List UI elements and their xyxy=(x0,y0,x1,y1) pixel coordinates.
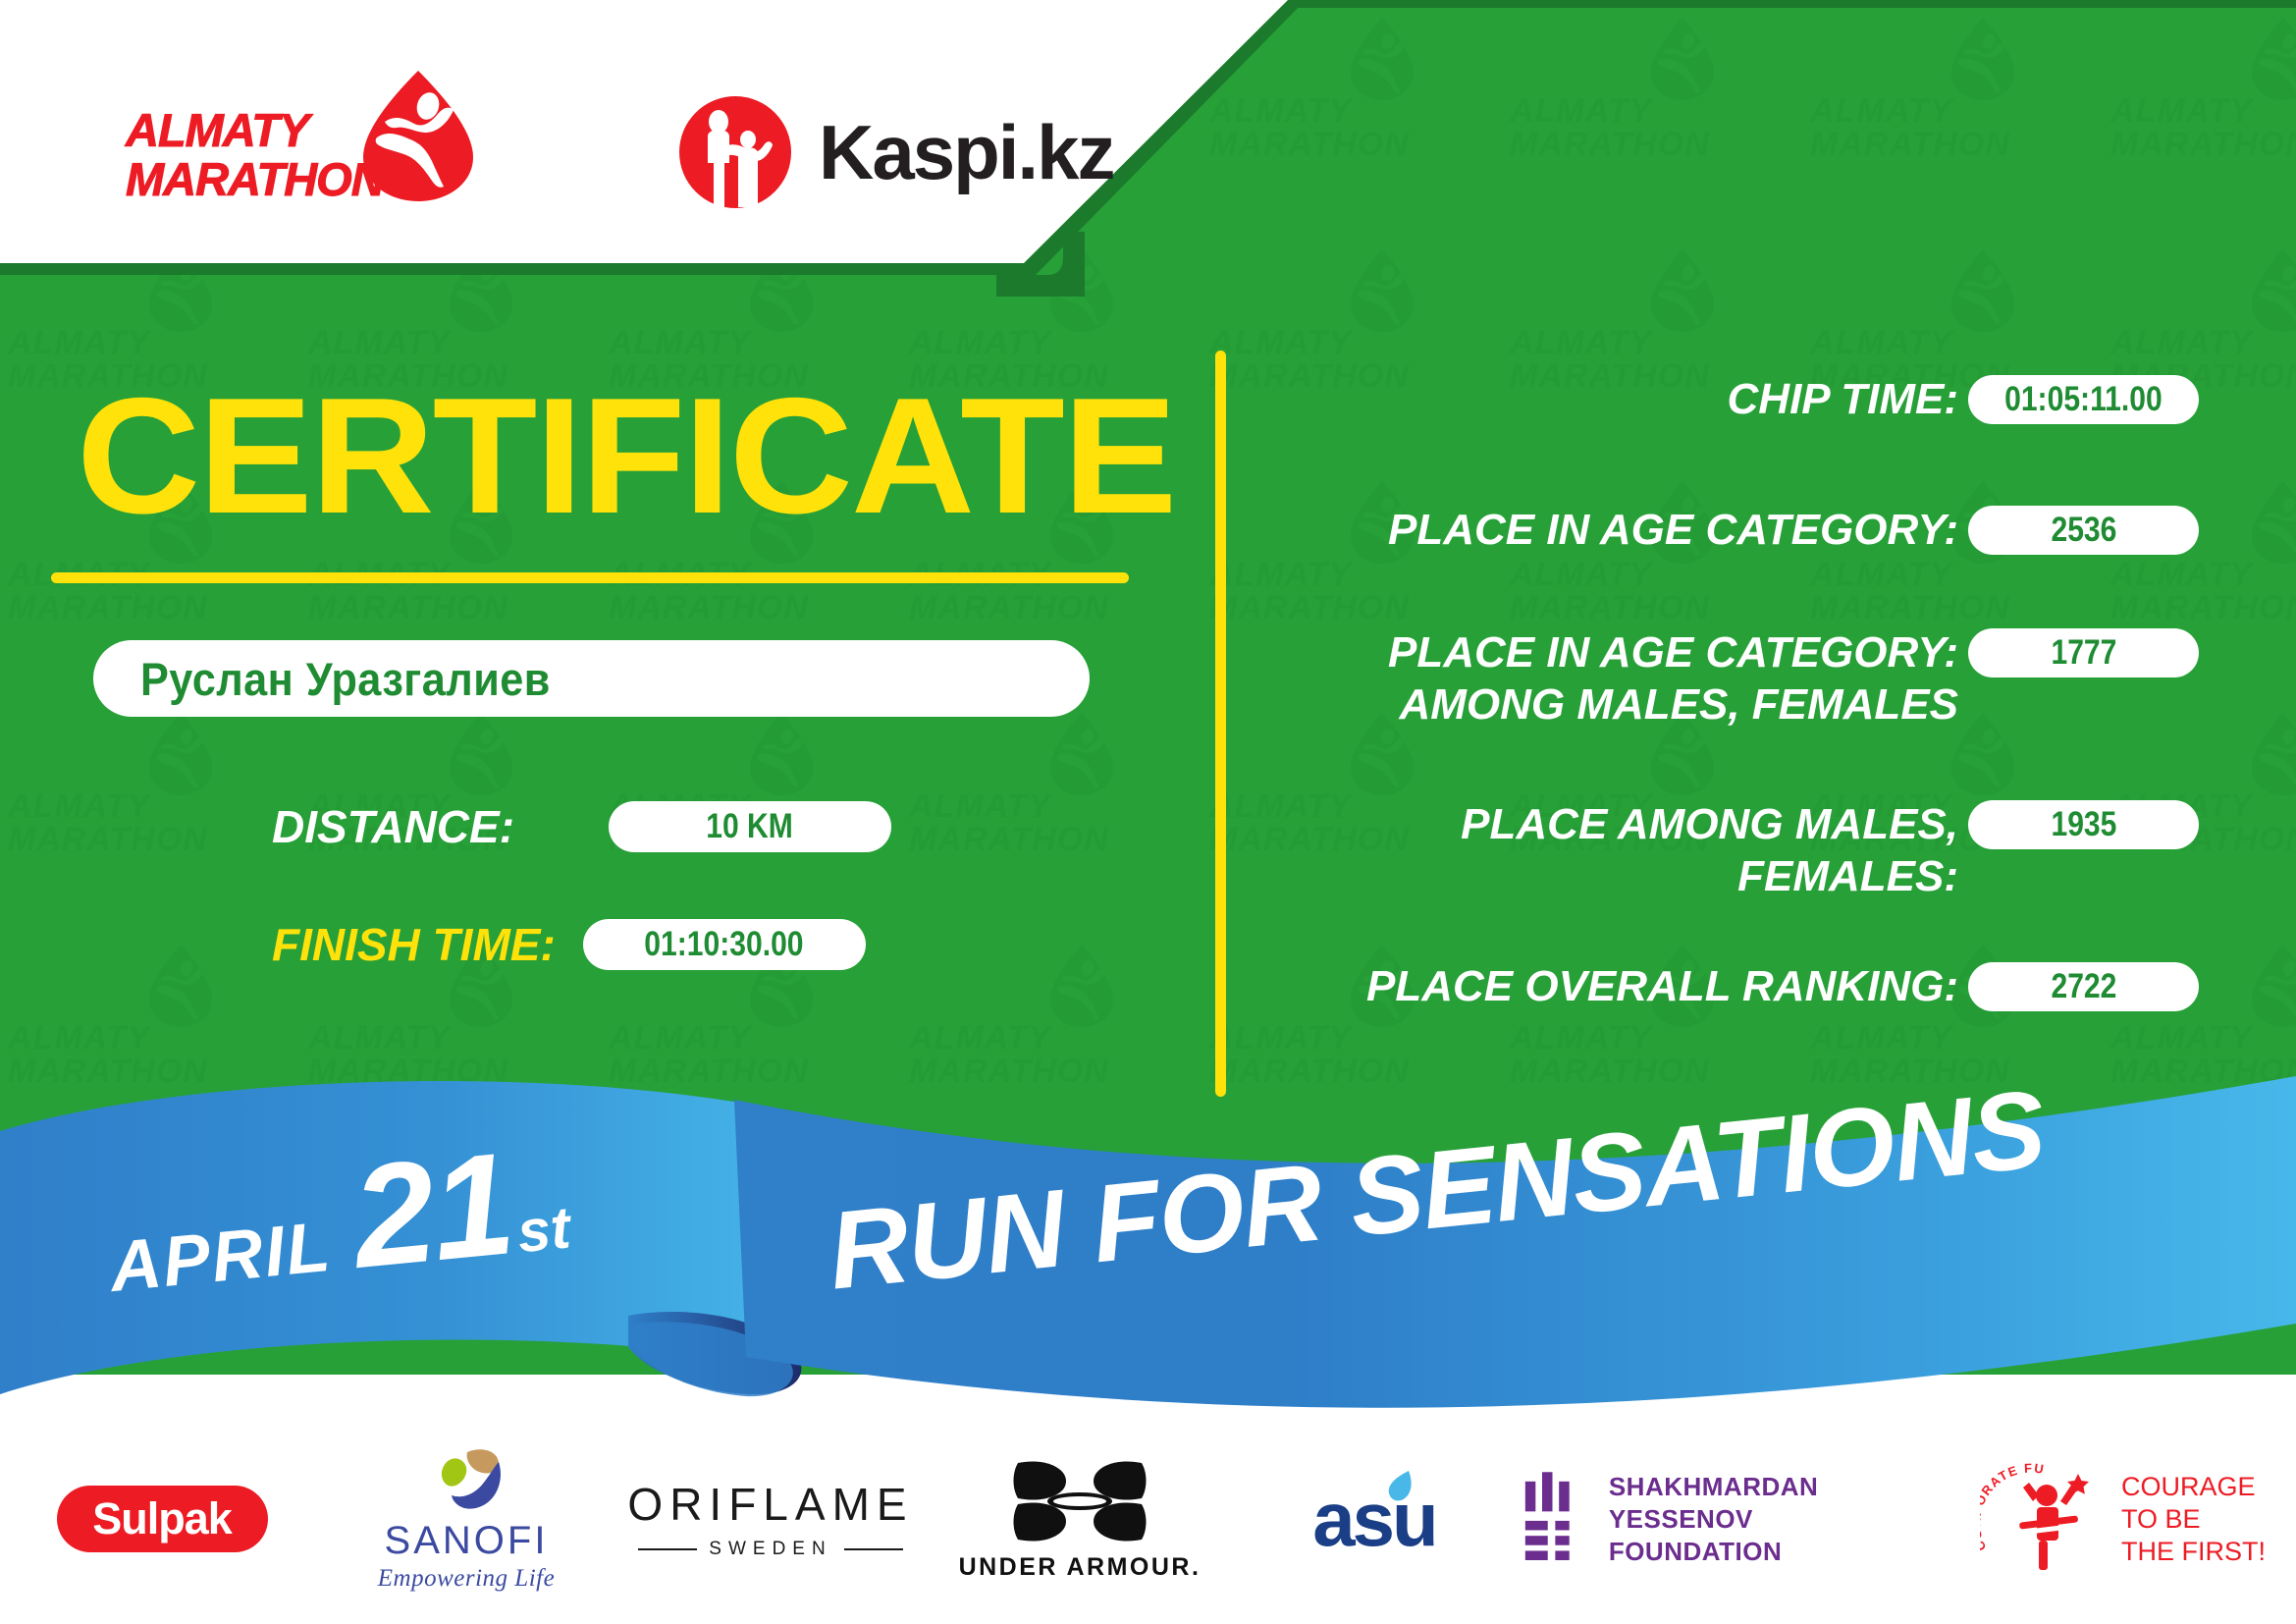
distance-value: 10 KM xyxy=(707,807,794,846)
result-label: PLACE OVERALL RANKING: xyxy=(1366,960,1958,1012)
vertical-divider xyxy=(1215,351,1226,1097)
result-label: PLACE IN AGE CATEGORY: xyxy=(1388,504,1958,556)
almaty-marathon-line-2: MARATHON xyxy=(126,155,391,204)
result-value: 2722 xyxy=(2051,967,2116,1006)
kaspi-people-circle-icon xyxy=(677,94,793,210)
result-value-pill: 2722 xyxy=(1968,962,2199,1011)
result-label: CHIP TIME: xyxy=(1728,373,1958,425)
result-value: 1935 xyxy=(2051,805,2116,844)
courage-fund-line-1: COURAGE xyxy=(2121,1471,2266,1503)
courage-fund-line-2: TO BE xyxy=(2121,1503,2266,1536)
result-value-pill: 2536 xyxy=(1968,506,2199,555)
event-day-suffix: st xyxy=(514,1193,573,1266)
yessenov-foundation-text: SHAKHMARDAN YESSENOV FOUNDATION xyxy=(1609,1471,1953,1568)
sulpak-logo: Sulpak xyxy=(57,1486,268,1552)
result-label: PLACE AMONG MALES, FEMALES: xyxy=(1461,798,1958,902)
oriflame-rule-left xyxy=(638,1548,697,1550)
distance-label: DISTANCE: xyxy=(272,800,514,853)
yessenov-foundation-logo: SHAKHMARDAN YESSENOV FOUNDATION xyxy=(1522,1470,1953,1568)
asu-logo: asu xyxy=(1312,1475,1435,1564)
finish-time-label: FINISH TIME: xyxy=(272,918,556,971)
header-corner-curve xyxy=(996,232,1085,297)
yessenov-mark-icon xyxy=(1522,1470,1587,1568)
result-value: 2536 xyxy=(2051,511,2116,550)
finish-time-value: 01:10:30.00 xyxy=(645,925,804,964)
courage-fund-line-3: THE FIRST! xyxy=(2121,1536,2266,1568)
kaspi-wordmark: Kaspi.kz xyxy=(819,108,1113,197)
result-value-pill: 1777 xyxy=(1968,628,2199,677)
participant-name-value: Руслан Уразгалиев xyxy=(140,652,551,706)
result-value-pill: 1935 xyxy=(1968,800,2199,849)
participant-name-field: Руслан Уразгалиев xyxy=(93,640,1090,717)
sulpak-label: Sulpak xyxy=(92,1493,232,1544)
courage-fund-logo: CORPORATE FUND COURAGE TO BE THE FIRST! xyxy=(1980,1460,2266,1578)
sanofi-logo: SANOFI Empowering Life xyxy=(378,1446,555,1593)
almaty-marathon-logo: ALMATY MARATHON xyxy=(126,59,459,216)
distance-value-pill: 10 KM xyxy=(609,801,891,852)
sanofi-tagline: Empowering Life xyxy=(378,1565,555,1593)
courage-fund-mark-icon: CORPORATE FUND xyxy=(1980,1460,2108,1578)
running-man-drop-icon xyxy=(359,67,477,204)
oriflame-country: SWEDEN xyxy=(709,1539,831,1560)
sanofi-mark-icon xyxy=(426,1446,507,1515)
kaspi-logo: Kaspi.kz xyxy=(677,90,1113,214)
certificate-canvas: ALMATY MARATHON Kaspi.kz CERTIFICATE Рус… xyxy=(0,0,2296,1624)
title-underline xyxy=(51,572,1129,583)
oriflame-logo: ORIFLAME SWEDEN xyxy=(627,1478,913,1560)
event-day: 21 xyxy=(347,1120,519,1302)
asu-droplet-icon xyxy=(1383,1469,1416,1508)
finish-time-row: FINISH TIME: 01:10:30.00 xyxy=(272,918,866,971)
distance-row: DISTANCE: 10 KM xyxy=(272,800,891,853)
result-value-pill: 01:05:11.00 xyxy=(1968,375,2199,424)
svg-text:CORPORATE FUND: CORPORATE FUND xyxy=(1980,1460,2046,1553)
under-armour-wordmark: UNDER ARMOUR. xyxy=(959,1553,1201,1582)
sponsor-asu: asu xyxy=(1227,1445,1522,1593)
finish-time-value-pill: 01:10:30.00 xyxy=(583,919,866,970)
sponsor-under-armour: UNDER ARMOUR. xyxy=(933,1445,1227,1593)
oriflame-sub: SWEDEN xyxy=(638,1539,902,1560)
result-value: 1777 xyxy=(2051,633,2116,673)
almaty-marathon-wordmark: ALMATY MARATHON xyxy=(126,106,391,204)
sanofi-wordmark: SANOFI xyxy=(385,1519,549,1563)
result-label: PLACE IN AGE CATEGORY: AMONG MALES, FEMA… xyxy=(1388,626,1958,731)
page-title: CERTIFICATE xyxy=(77,373,1190,538)
yessenov-foundation-line-2: FOUNDATION xyxy=(1609,1536,1953,1568)
courage-fund-text: COURAGE TO BE THE FIRST! xyxy=(2121,1471,2266,1568)
event-month: APRIL xyxy=(106,1207,335,1308)
sponsors-bar: Sulpak SANOFI Empowering Life ORIFLAME S… xyxy=(0,1414,2296,1624)
sponsor-oriflame: ORIFLAME SWEDEN xyxy=(609,1445,933,1593)
sponsor-courage-fund: CORPORATE FUND COURAGE TO BE THE FIRST! xyxy=(1953,1445,2292,1593)
sponsor-sulpak: Sulpak xyxy=(0,1445,324,1593)
oriflame-rule-right xyxy=(844,1548,903,1550)
under-armour-mark-icon xyxy=(1006,1457,1153,1545)
almaty-marathon-line-1: ALMATY xyxy=(126,106,391,155)
asu-wordmark: asu xyxy=(1312,1475,1435,1564)
result-value: 01:05:11.00 xyxy=(2004,380,2163,419)
yessenov-foundation-line-1: SHAKHMARDAN YESSENOV xyxy=(1609,1471,1953,1536)
sponsor-yessenov-foundation: SHAKHMARDAN YESSENOV FOUNDATION xyxy=(1522,1445,1953,1593)
under-armour-logo: UNDER ARMOUR. xyxy=(959,1457,1201,1582)
courage-fund-arc-text: CORPORATE FUND xyxy=(1980,1460,2046,1553)
oriflame-wordmark: ORIFLAME xyxy=(627,1478,913,1531)
sponsor-sanofi: SANOFI Empowering Life xyxy=(324,1445,609,1593)
